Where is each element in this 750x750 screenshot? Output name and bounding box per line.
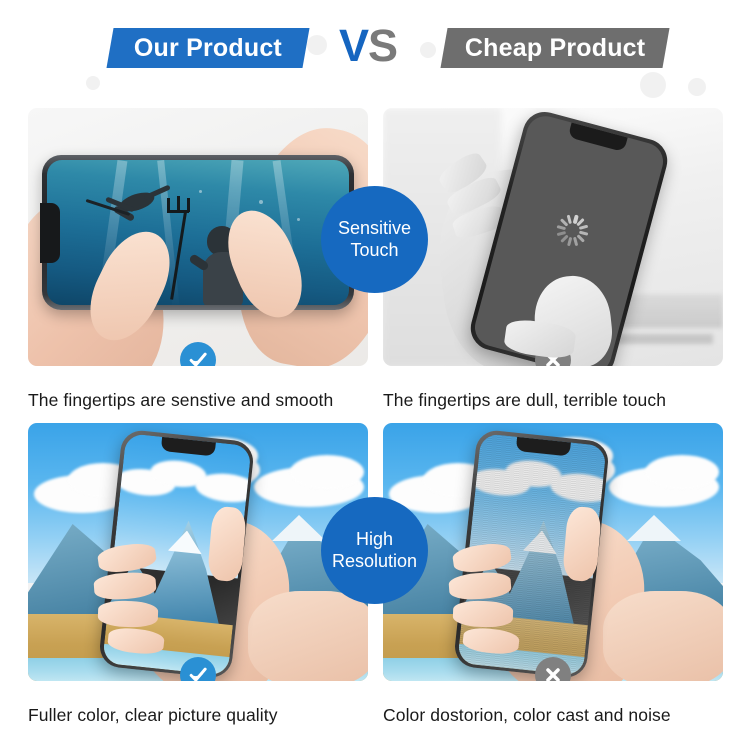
feature-line-1: Sensitive	[338, 218, 411, 239]
feature-line-2: Touch	[350, 240, 398, 261]
loading-spinner-icon	[552, 210, 594, 252]
photo-hands-phone-game	[28, 108, 368, 366]
caption-text: The fingertips are senstive and smooth	[28, 390, 368, 411]
photo-hands-phone-loading	[383, 108, 723, 366]
photo-phone-landscape-vivid	[28, 423, 368, 681]
cell-sensitive-touch-ours: The fingertips are senstive and smooth	[28, 108, 368, 411]
header: Our Product VS Cheap Product	[0, 28, 750, 90]
comparison-infographic: Our Product VS Cheap Product	[0, 0, 750, 750]
cell-high-resolution-cheap: Color dostorion, color cast and noise	[383, 423, 723, 726]
wrist	[603, 591, 723, 681]
feature-line-1: High	[356, 529, 393, 550]
phone-device	[42, 155, 354, 310]
our-product-banner: Our Product	[106, 28, 309, 68]
feature-badge-sensitive-touch: Sensitive Touch	[321, 186, 428, 293]
vs-s-letter: S	[368, 20, 397, 71]
cell-sensitive-touch-cheap: The fingertips are dull, terrible touch	[383, 108, 723, 411]
vs-label: VS	[339, 23, 397, 68]
vs-v-letter: V	[339, 20, 368, 71]
caption-text: Color dostorion, color cast and noise	[383, 705, 723, 726]
cheap-product-label: Cheap Product	[465, 36, 645, 61]
phone-notch	[40, 203, 60, 263]
caption-text: Fuller color, clear picture quality	[28, 705, 368, 726]
feature-badge-high-resolution: High Resolution	[321, 497, 428, 604]
cell-high-resolution-ours: Fuller color, clear picture quality	[28, 423, 368, 726]
wrist	[248, 591, 368, 681]
feature-line-2: Resolution	[332, 551, 417, 572]
our-product-label: Our Product	[134, 36, 282, 61]
cheap-product-banner: Cheap Product	[440, 28, 669, 68]
phone-screen	[47, 160, 349, 305]
caption-text: The fingertips are dull, terrible touch	[383, 390, 723, 411]
phone-notch	[568, 123, 628, 153]
photo-phone-landscape-dull	[383, 423, 723, 681]
